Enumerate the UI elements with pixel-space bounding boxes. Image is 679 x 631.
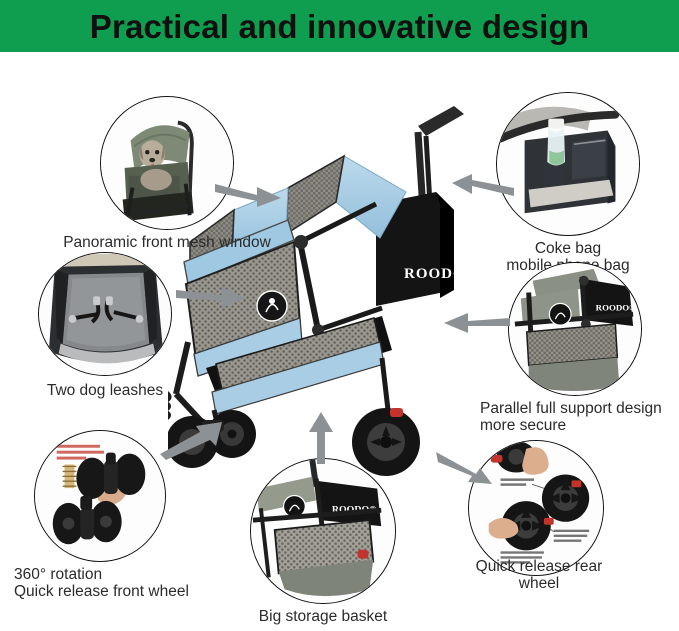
callout-caption: 360° rotation Quick release front wheel [14,566,234,601]
callout-caption: Big storage basket [234,608,412,625]
page-title: Practical and innovative design [90,10,590,43]
callout-circle-image [38,252,172,376]
callout-parallel-full-support: ROODO® Par [508,262,642,396]
header-banner: Practical and innovative design [0,0,679,52]
arrow-to-product-parallel-support [444,308,510,338]
callout-two-dog-leashes: Two dog leashes [38,252,172,376]
callout-caption: Two dog leashes [6,382,204,399]
callout-big-storage-basket: ROODO® Big storage basket [250,458,396,604]
callout-panoramic-mesh-window: Panoramic front mesh window [100,96,234,230]
photo-parallel-support-frame: ROODO® [509,263,641,395]
callout-coke-bag: Coke bag mobile phone bag [496,92,640,236]
photo-rear-storage-bag [497,93,639,235]
arrow-to-product-mesh-window [215,178,285,212]
callout-caption: Quick release rear wheel [456,558,622,593]
arrow-to-product-storage-basket [306,412,336,464]
photo-storage-basket: ROODO® [251,459,395,603]
infographic-page: Practical and innovative design [0,0,679,631]
callout-circle-image [496,92,640,236]
arrow-to-product-rear-wheel [436,444,494,484]
callout-caption: Parallel full support design more secure [480,400,679,435]
callout-360-rotation-front-wheel: 360° rotation Quick release front wheel [34,430,166,562]
callout-caption: Panoramic front mesh window [48,234,286,251]
photo-dog-in-stroller [101,97,233,229]
svg-text:ROODO®: ROODO® [596,302,636,312]
arrow-to-product-coke-bag [452,172,514,204]
arrow-to-product-leashes [176,282,248,312]
callout-circle-image [34,430,166,562]
callout-circle-image: ROODO® [508,262,642,396]
product-brand-text: ROODO® [404,266,478,282]
photo-stroller-interior-leashes [39,253,171,375]
callout-circle-image [100,96,234,230]
arrow-to-product-front-wheel [160,418,224,460]
callout-circle-image: ROODO® [250,458,396,604]
photo-front-wheel-quick-release [35,431,165,561]
